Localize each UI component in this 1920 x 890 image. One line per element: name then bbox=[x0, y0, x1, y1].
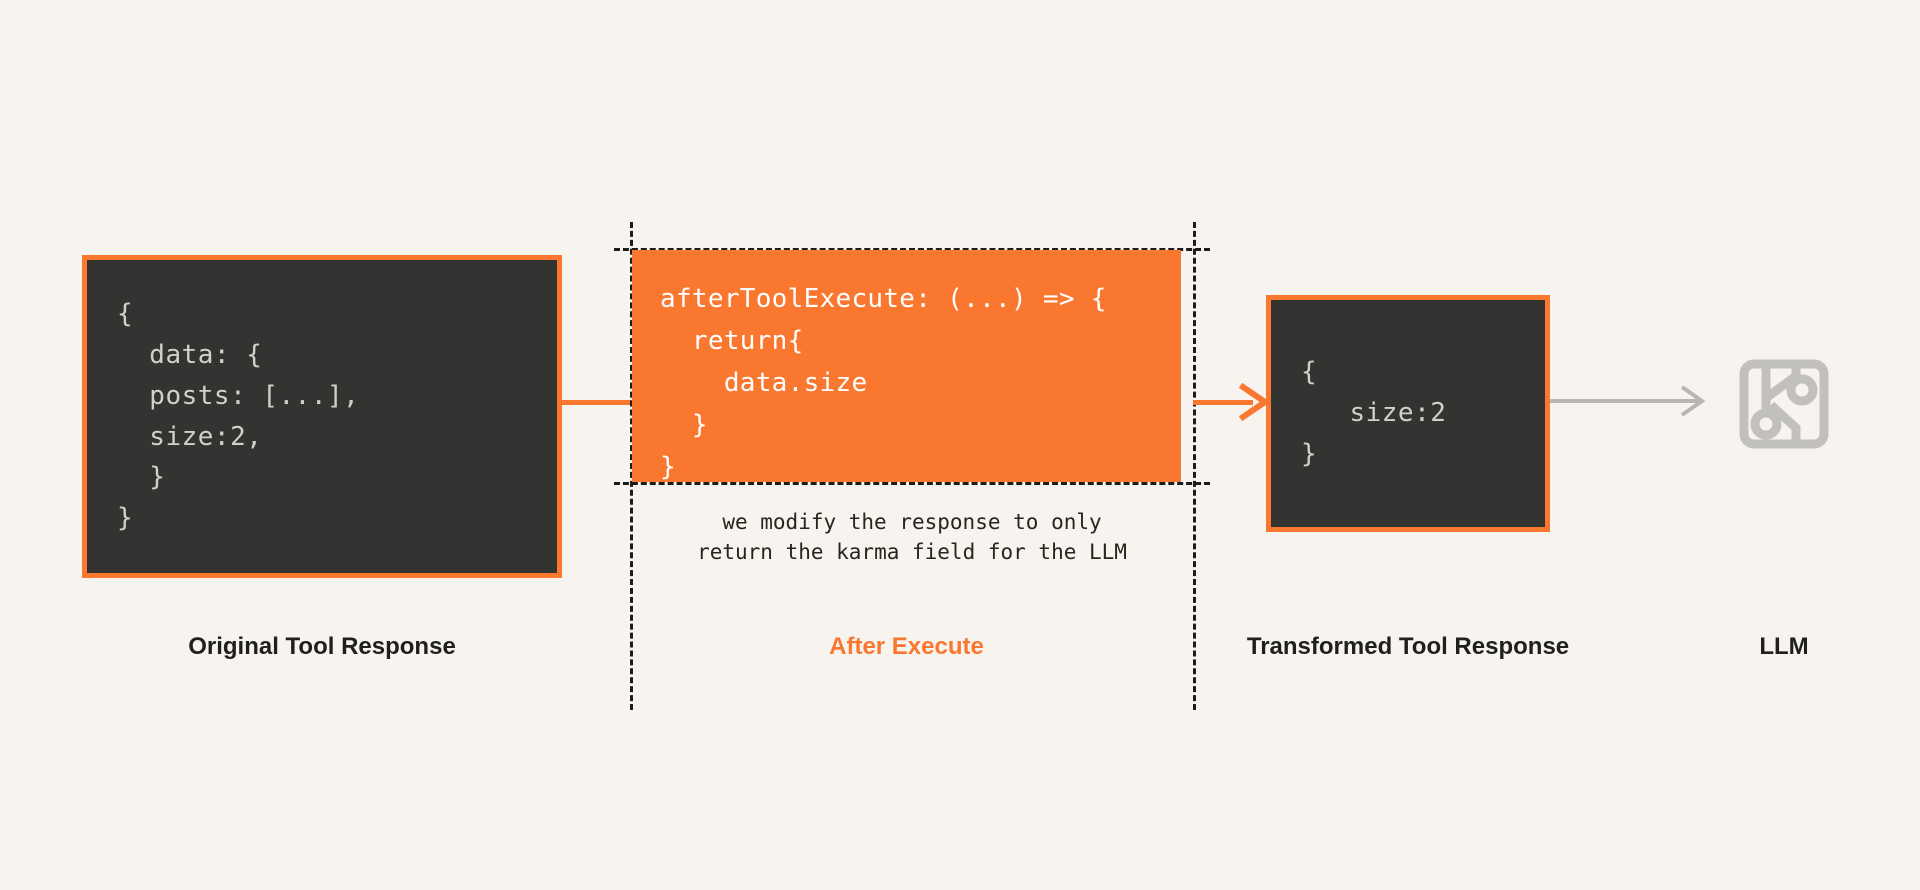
after-execute-annotation: we modify the response to only return th… bbox=[634, 508, 1190, 568]
after-execute-card: afterToolExecute: (...) => { return{ dat… bbox=[632, 250, 1181, 482]
caption-original-tool-response: Original Tool Response bbox=[82, 633, 562, 661]
diagram-canvas: { data: { posts: [...], size:2, } } afte… bbox=[0, 0, 1920, 890]
after-execute-code: afterToolExecute: (...) => { return{ dat… bbox=[632, 250, 1107, 489]
original-tool-response-code: { data: { posts: [...], size:2, } } bbox=[87, 294, 359, 539]
caption-transformed-tool-response: Transformed Tool Response bbox=[1090, 633, 1726, 661]
connector-transformed-to-llm bbox=[1550, 385, 1710, 417]
connector-original-to-after bbox=[562, 400, 634, 405]
caption-llm: LLM bbox=[1694, 633, 1874, 661]
chip-icon bbox=[1738, 358, 1830, 450]
transformed-tool-response-card: { size:2 } bbox=[1266, 295, 1550, 532]
transformed-tool-response-code: { size:2 } bbox=[1271, 352, 1446, 474]
original-tool-response-card: { data: { posts: [...], size:2, } } bbox=[82, 255, 562, 578]
